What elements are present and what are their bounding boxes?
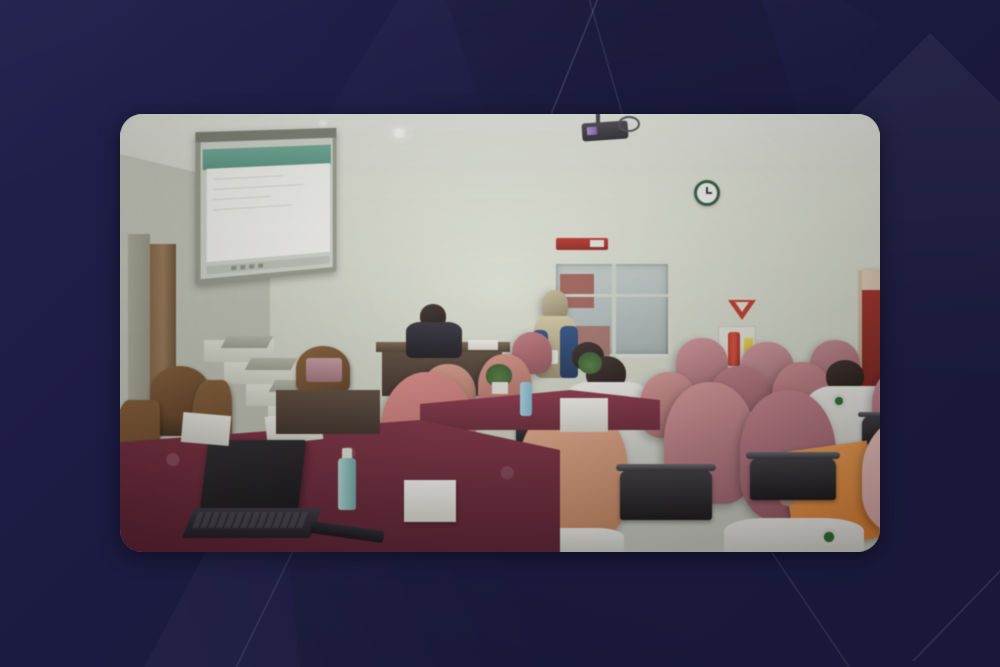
screen-surface <box>201 138 333 279</box>
papers-on-table <box>468 340 498 350</box>
projection-screen <box>195 128 336 285</box>
participant-white-shirt <box>724 518 864 552</box>
fire-extinguisher-icon <box>728 332 740 366</box>
wall-sign <box>556 238 608 250</box>
chair-back <box>750 458 836 500</box>
hand-sanitizer-bottle <box>338 458 356 510</box>
screen-text-line <box>213 196 271 200</box>
chair-rim <box>858 412 880 417</box>
potted-plant <box>578 352 602 374</box>
taskbar-item <box>249 264 254 268</box>
window-mullion <box>612 264 616 358</box>
door-red-panel <box>862 290 880 386</box>
screen-text-line <box>213 184 304 190</box>
window-mullion <box>556 294 668 297</box>
screen-text-line <box>213 204 292 210</box>
side-table <box>276 390 380 434</box>
plant-pot <box>492 382 508 394</box>
wall-clock-icon <box>694 180 720 206</box>
tissue-box <box>560 398 608 432</box>
warning-triangle-icon <box>728 300 756 320</box>
projector-arm <box>618 116 640 132</box>
chair-cushion <box>306 358 342 382</box>
chair-rim <box>616 464 716 471</box>
screen-text-line <box>213 175 283 180</box>
papers-stack <box>181 412 231 446</box>
ceiling-lamp-icon <box>316 120 330 127</box>
stair-tread <box>245 358 297 370</box>
poster-footer: #MenujuPKNSTANBaru <box>0 552 1000 667</box>
spray-bottle <box>520 382 532 416</box>
taskbar-item <box>240 265 245 269</box>
uniform-badge <box>832 394 846 408</box>
chair-back <box>620 470 712 520</box>
taskbar-item <box>231 266 236 271</box>
window-pane <box>616 266 666 356</box>
sign-label-area <box>590 240 604 247</box>
laptop-keyboard <box>182 508 322 538</box>
keyboard-keys <box>192 512 310 528</box>
operator-body <box>406 322 462 358</box>
projector-lens <box>587 127 598 136</box>
uniform-badge <box>820 528 838 546</box>
tissue-box <box>404 480 456 522</box>
stair-tread <box>221 336 273 348</box>
chair-rim <box>746 452 840 459</box>
ceiling-lamp-icon <box>388 128 410 138</box>
event-photo <box>120 114 880 552</box>
taskbar-item <box>258 263 263 267</box>
laptop-screen <box>200 440 307 512</box>
wall-column <box>128 234 150 404</box>
screen-document-area <box>207 163 330 262</box>
photo-scene <box>120 114 880 552</box>
